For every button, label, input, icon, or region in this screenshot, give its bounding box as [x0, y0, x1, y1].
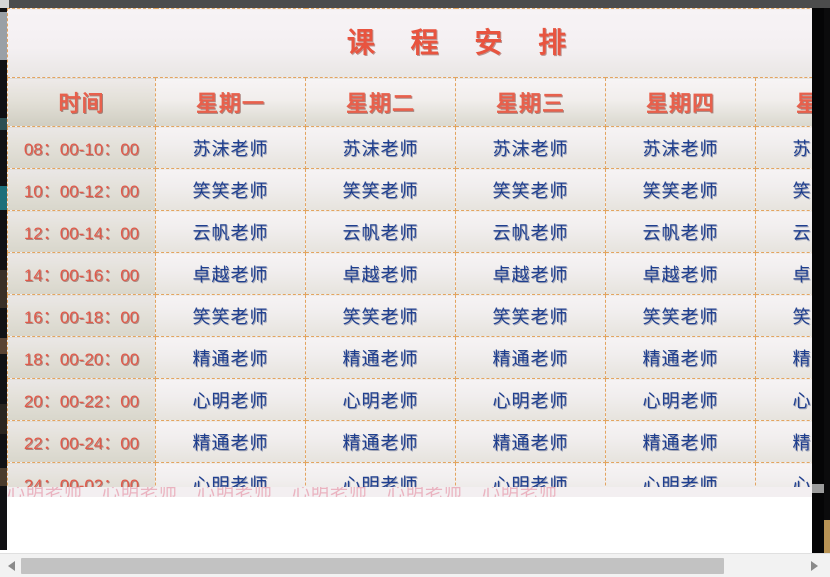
table-row: 08：00-10：00 苏沫老师 苏沫老师 苏沫老师 苏沫老师 苏沫老师: [8, 127, 813, 169]
header-label-thursday: 星期四: [646, 91, 715, 116]
teacher-label: 精通老师: [493, 349, 569, 369]
class-cell[interactable]: 卓越老师: [456, 253, 606, 295]
class-cell[interactable]: 云帆老师: [156, 211, 306, 253]
header-label-tuesday: 星期二: [346, 91, 415, 116]
class-cell[interactable]: 心明老师: [756, 379, 813, 421]
table-row: 22：00-24：00 精通老师 精通老师 精通老师 精通老师 精通老师: [8, 421, 813, 463]
teacher-label: 笑笑老师: [493, 307, 569, 327]
clipped-overflow-row: 心明老师 心明老师 心明老师 心明老师 心明老师 心明老师: [7, 487, 812, 497]
class-cell[interactable]: 笑笑老师: [756, 295, 813, 337]
class-cell[interactable]: 精通老师: [606, 421, 756, 463]
teacher-label: 苏沫老师: [193, 139, 269, 159]
teacher-label: 精通老师: [343, 349, 419, 369]
table-header-row: 时间 星期一 星期二 星期三 星期四 星期五: [8, 78, 813, 127]
blank-page-area: [7, 497, 812, 550]
teacher-label: 卓越老师: [643, 265, 719, 285]
class-cell[interactable]: 精通老师: [606, 337, 756, 379]
time-cell[interactable]: 16：00-18：00: [8, 295, 156, 337]
occluder-gray-marker: [812, 484, 824, 493]
header-cell-thursday[interactable]: 星期四: [606, 78, 756, 127]
class-cell[interactable]: 精通老师: [756, 421, 813, 463]
occluder-strip: [824, 8, 830, 557]
teacher-label: 苏沫老师: [643, 139, 719, 159]
teacher-label: 精通老师: [643, 349, 719, 369]
teacher-label: 笑笑老师: [193, 181, 269, 201]
teacher-label: 卓越老师: [343, 265, 419, 285]
time-label: 20：00-22：00: [24, 392, 139, 411]
class-cell[interactable]: 卓越老师: [606, 253, 756, 295]
scrollbar-track[interactable]: [724, 558, 804, 574]
teacher-label: 笑笑老师: [793, 307, 813, 327]
teacher-label: 卓越老师: [193, 265, 269, 285]
time-label: 14：00-16：00: [24, 266, 139, 285]
page-title: 课 程 安 排: [8, 9, 812, 77]
teacher-label: 笑笑老师: [343, 181, 419, 201]
schedule-table: 课 程 安 排 时间 星期一 星期二 星期三 星期四 星期五 08：00-10：…: [7, 8, 812, 495]
class-cell[interactable]: 云帆老师: [456, 211, 606, 253]
class-cell[interactable]: 心明老师: [456, 379, 606, 421]
table-row: 16：00-18：00 笑笑老师 笑笑老师 笑笑老师 笑笑老师 笑笑老师: [8, 295, 813, 337]
class-cell[interactable]: 笑笑老师: [156, 295, 306, 337]
time-cell[interactable]: 18：00-20：00: [8, 337, 156, 379]
class-cell[interactable]: 精通老师: [156, 421, 306, 463]
class-cell[interactable]: 精通老师: [456, 421, 606, 463]
sliver-band-2: [0, 118, 7, 130]
class-cell[interactable]: 精通老师: [156, 337, 306, 379]
right-edge-occluder: [812, 8, 830, 557]
class-cell[interactable]: 笑笑老师: [456, 295, 606, 337]
window-title-bar: [0, 0, 830, 8]
teacher-label: 精通老师: [793, 433, 813, 453]
class-cell[interactable]: 笑笑老师: [306, 169, 456, 211]
teacher-label: 笑笑老师: [643, 307, 719, 327]
time-label: 10：00-12：00: [24, 182, 139, 201]
time-label: 12：00-14：00: [24, 224, 139, 243]
class-cell[interactable]: 笑笑老师: [606, 169, 756, 211]
teacher-label: 笑笑老师: [643, 181, 719, 201]
clipped-overflow-text: 心明老师 心明老师 心明老师 心明老师 心明老师 心明老师: [7, 487, 812, 497]
teacher-label: 卓越老师: [793, 265, 813, 285]
horizontal-scrollbar[interactable]: [0, 553, 830, 577]
class-cell[interactable]: 笑笑老师: [456, 169, 606, 211]
time-label: 22：00-24：00: [24, 434, 139, 453]
class-cell[interactable]: 精通老师: [456, 337, 606, 379]
window-corner-nub: [0, 0, 9, 8]
time-cell[interactable]: 20：00-22：00: [8, 379, 156, 421]
class-cell[interactable]: 笑笑老师: [306, 295, 456, 337]
table-row: 18：00-20：00 精通老师 精通老师 精通老师 精通老师 精通老师: [8, 337, 813, 379]
teacher-label: 云帆老师: [793, 223, 813, 243]
teacher-label: 笑笑老师: [793, 181, 813, 201]
teacher-label: 心明老师: [493, 391, 569, 411]
class-cell[interactable]: 笑笑老师: [606, 295, 756, 337]
title-row: 课 程 安 排: [8, 9, 813, 78]
background-window-sliver: [0, 8, 7, 550]
time-label: 18：00-20：00: [24, 350, 139, 369]
table-row: 10：00-12：00 笑笑老师 笑笑老师 笑笑老师 笑笑老师 笑笑老师: [8, 169, 813, 211]
time-cell[interactable]: 14：00-16：00: [8, 253, 156, 295]
schedule-title-cell: 课 程 安 排: [8, 9, 813, 78]
header-cell-monday[interactable]: 星期一: [156, 78, 306, 127]
teacher-label: 精通老师: [643, 433, 719, 453]
teacher-label: 苏沫老师: [493, 139, 569, 159]
teacher-label: 云帆老师: [193, 223, 269, 243]
class-cell[interactable]: 精通老师: [306, 421, 456, 463]
sliver-band-3: [0, 186, 7, 210]
class-cell[interactable]: 心明老师: [156, 379, 306, 421]
class-cell[interactable]: 苏沫老师: [306, 127, 456, 169]
header-label-time: 时间: [58, 91, 104, 116]
class-cell[interactable]: 卓越老师: [756, 253, 813, 295]
sliver-band-6: [0, 404, 7, 434]
teacher-label: 心明老师: [793, 391, 813, 411]
header-cell-tuesday[interactable]: 星期二: [306, 78, 456, 127]
class-cell[interactable]: 卓越老师: [306, 253, 456, 295]
header-cell-wednesday[interactable]: 星期三: [456, 78, 606, 127]
teacher-label: 卓越老师: [493, 265, 569, 285]
table-row: 14：00-16：00 卓越老师 卓越老师 卓越老师 卓越老师 卓越老师: [8, 253, 813, 295]
class-cell[interactable]: 苏沫老师: [456, 127, 606, 169]
class-cell[interactable]: 精通老师: [306, 337, 456, 379]
teacher-label: 笑笑老师: [193, 307, 269, 327]
class-cell[interactable]: 云帆老师: [306, 211, 456, 253]
screen-root: 课 程 安 排 时间 星期一 星期二 星期三 星期四 星期五 08：00-10：…: [0, 0, 830, 577]
class-cell[interactable]: 苏沫老师: [156, 127, 306, 169]
sliver-band-1: [0, 12, 7, 60]
class-cell[interactable]: 心明老师: [606, 379, 756, 421]
teacher-label: 心明老师: [643, 391, 719, 411]
teacher-label: 笑笑老师: [493, 181, 569, 201]
class-cell[interactable]: 苏沫老师: [756, 127, 813, 169]
sliver-band-7: [0, 468, 7, 486]
time-cell[interactable]: 10：00-12：00: [8, 169, 156, 211]
header-cell-friday[interactable]: 星期五: [756, 78, 813, 127]
class-cell[interactable]: 云帆老师: [756, 211, 813, 253]
scrollbar-thumb[interactable]: [21, 558, 724, 574]
time-cell[interactable]: 22：00-24：00: [8, 421, 156, 463]
teacher-label: 精通老师: [343, 433, 419, 453]
scroll-left-arrow-icon[interactable]: [3, 554, 20, 577]
teacher-label: 精通老师: [193, 433, 269, 453]
teacher-label: 心明老师: [193, 391, 269, 411]
teacher-label: 云帆老师: [343, 223, 419, 243]
teacher-label: 笑笑老师: [343, 307, 419, 327]
class-cell[interactable]: 笑笑老师: [756, 169, 813, 211]
header-label-monday: 星期一: [196, 91, 265, 116]
teacher-label: 精通老师: [193, 349, 269, 369]
teacher-label: 心明老师: [343, 391, 419, 411]
time-cell[interactable]: 12：00-14：00: [8, 211, 156, 253]
time-label: 08：00-10：00: [24, 140, 139, 159]
class-cell[interactable]: 笑笑老师: [156, 169, 306, 211]
scroll-right-arrow-icon[interactable]: [806, 554, 823, 577]
table-row: 12：00-14：00 云帆老师 云帆老师 云帆老师 云帆老师 云帆老师: [8, 211, 813, 253]
teacher-label: 苏沫老师: [343, 139, 419, 159]
class-cell[interactable]: 心明老师: [306, 379, 456, 421]
time-label: 16：00-18：00: [24, 308, 139, 327]
class-cell[interactable]: 苏沫老师: [606, 127, 756, 169]
schedule-sheet: 课 程 安 排 时间 星期一 星期二 星期三 星期四 星期五 08：00-10：…: [7, 8, 812, 495]
teacher-label: 精通老师: [493, 433, 569, 453]
table-row: 20：00-22：00 心明老师 心明老师 心明老师 心明老师 心明老师: [8, 379, 813, 421]
header-cell-time[interactable]: 时间: [8, 78, 156, 127]
class-cell[interactable]: 精通老师: [756, 337, 813, 379]
time-cell[interactable]: 08：00-10：00: [8, 127, 156, 169]
header-label-wednesday: 星期三: [496, 91, 565, 116]
sliver-band-5: [0, 338, 7, 354]
teacher-label: 云帆老师: [493, 223, 569, 243]
class-cell[interactable]: 云帆老师: [606, 211, 756, 253]
sliver-band-4: [0, 270, 7, 308]
teacher-label: 精通老师: [793, 349, 813, 369]
header-label-friday: 星期五: [796, 91, 812, 116]
teacher-label: 苏沫老师: [793, 139, 813, 159]
teacher-label: 云帆老师: [643, 223, 719, 243]
class-cell[interactable]: 卓越老师: [156, 253, 306, 295]
